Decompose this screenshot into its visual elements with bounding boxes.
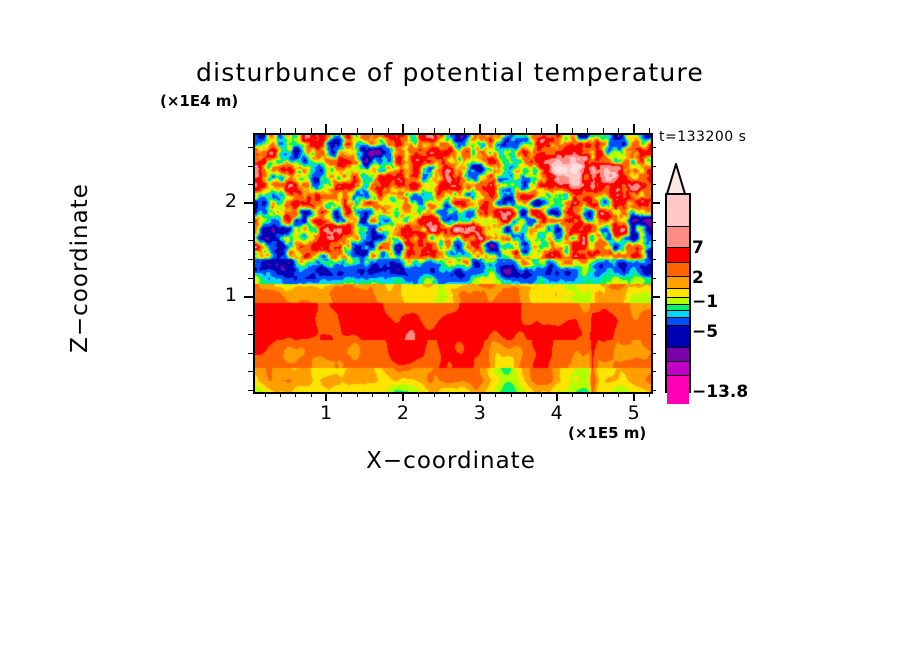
- x-minor-tick: [587, 392, 588, 397]
- x-major-tick-top: [479, 124, 481, 133]
- x-minor-tick-top: [618, 128, 619, 133]
- y-minor-tick-right: [651, 184, 656, 185]
- y-minor-tick: [248, 166, 253, 167]
- x-minor-tick-top: [526, 128, 527, 133]
- x-major-tick-top: [556, 124, 558, 133]
- x-minor-tick-top: [464, 128, 465, 133]
- contour-canvas: [255, 135, 651, 392]
- x-tick-label-0: 1: [306, 402, 346, 424]
- x-minor-tick-top: [280, 128, 281, 133]
- contour-figure: disturbunce of potential temperature (×1…: [0, 0, 904, 654]
- x-minor-tick: [511, 392, 512, 397]
- x-minor-tick-top: [511, 128, 512, 133]
- colorbar-label-1: 2: [692, 268, 704, 288]
- x-minor-tick: [295, 392, 296, 397]
- x-minor-tick: [603, 392, 604, 397]
- colorbar: [665, 193, 691, 393]
- plot-area: [253, 133, 653, 394]
- y-minor-tick-right: [651, 390, 656, 391]
- y-minor-tick-right: [651, 222, 656, 223]
- colorbar-label-2: −1: [692, 292, 718, 312]
- y-minor-tick: [248, 390, 253, 391]
- y-minor-tick: [248, 353, 253, 354]
- x-major-tick: [556, 392, 558, 401]
- colorbar-arrow-cap-icon: [664, 163, 688, 195]
- x-minor-tick: [341, 392, 342, 397]
- x-minor-tick: [311, 392, 312, 397]
- x-minor-tick-top: [341, 128, 342, 133]
- page-title: disturbunce of potential temperature: [150, 58, 750, 87]
- y-major-tick: [244, 202, 253, 204]
- colorbar-band-7: [667, 298, 689, 305]
- x-tick-label-2: 3: [460, 402, 500, 424]
- y-minor-tick: [248, 371, 253, 372]
- y-tick-label-0: 1: [197, 284, 237, 306]
- x-minor-tick: [418, 392, 419, 397]
- y-minor-tick-right: [651, 166, 656, 167]
- y-axis-unit-label: (×1E4 m): [160, 92, 238, 110]
- colorbar-label-0: 7: [692, 238, 704, 258]
- x-minor-tick-top: [587, 128, 588, 133]
- x-minor-tick: [649, 392, 650, 397]
- colorbar-band-2: [667, 348, 689, 362]
- colorbar-band-8: [667, 289, 689, 297]
- colorbar-band-11: [667, 248, 689, 263]
- colorbar-band-5: [667, 311, 689, 318]
- x-minor-tick-top: [449, 128, 450, 133]
- colorbar-band-13: [667, 195, 689, 227]
- y-minor-tick: [248, 222, 253, 223]
- x-minor-tick: [372, 392, 373, 397]
- x-major-tick: [633, 392, 635, 401]
- x-tick-label-3: 4: [537, 402, 577, 424]
- x-minor-tick: [357, 392, 358, 397]
- x-minor-tick-top: [295, 128, 296, 133]
- y-minor-tick-right: [651, 334, 656, 335]
- x-minor-tick-top: [495, 128, 496, 133]
- x-minor-tick: [265, 392, 266, 397]
- colorbar-band-9: [667, 277, 689, 290]
- x-minor-tick: [572, 392, 573, 397]
- x-minor-tick: [449, 392, 450, 397]
- x-major-tick: [402, 392, 404, 401]
- colorbar-band-3: [667, 326, 689, 348]
- x-minor-tick-top: [541, 128, 542, 133]
- colorbar-label-3: −5: [692, 322, 718, 342]
- y-major-tick: [244, 296, 253, 298]
- x-major-tick-top: [325, 124, 327, 133]
- y-minor-tick-right: [651, 147, 656, 148]
- x-minor-tick: [464, 392, 465, 397]
- colorbar-band-6: [667, 305, 689, 312]
- x-minor-tick: [618, 392, 619, 397]
- x-minor-tick-top: [357, 128, 358, 133]
- y-minor-tick: [248, 334, 253, 335]
- x-major-tick-top: [402, 124, 404, 133]
- y-minor-tick-right: [651, 259, 656, 260]
- x-minor-tick-top: [311, 128, 312, 133]
- y-minor-tick: [248, 259, 253, 260]
- y-minor-tick: [248, 147, 253, 148]
- x-minor-tick-top: [372, 128, 373, 133]
- y-minor-tick: [248, 278, 253, 279]
- y-minor-tick: [248, 315, 253, 316]
- x-minor-tick-top: [572, 128, 573, 133]
- x-major-tick: [325, 392, 327, 401]
- x-minor-tick-top: [265, 128, 266, 133]
- x-minor-tick-top: [434, 128, 435, 133]
- y-major-tick-right: [651, 202, 660, 204]
- x-axis-label: X−coordinate: [253, 448, 649, 474]
- colorbar-band-1: [667, 362, 689, 376]
- y-minor-tick-right: [651, 278, 656, 279]
- x-minor-tick: [434, 392, 435, 397]
- colorbar-band-4: [667, 318, 689, 326]
- colorbar-band-0: [667, 376, 689, 404]
- y-minor-tick-right: [651, 371, 656, 372]
- x-major-tick-top: [633, 124, 635, 133]
- y-tick-label-1: 2: [197, 190, 237, 212]
- x-minor-tick: [495, 392, 496, 397]
- x-tick-label-4: 5: [614, 402, 654, 424]
- y-minor-tick-right: [651, 240, 656, 241]
- x-minor-tick-top: [418, 128, 419, 133]
- colorbar-label-4: −13.8: [692, 382, 748, 402]
- y-major-tick-right: [651, 296, 660, 298]
- timestamp-label: t=133200 s: [659, 129, 746, 145]
- x-minor-tick-top: [388, 128, 389, 133]
- y-minor-tick-right: [651, 315, 656, 316]
- x-minor-tick: [541, 392, 542, 397]
- colorbar-band-12: [667, 227, 689, 248]
- x-minor-tick-top: [649, 128, 650, 133]
- x-minor-tick: [280, 392, 281, 397]
- x-tick-label-1: 2: [383, 402, 423, 424]
- y-axis-label: Z−coordinate: [67, 118, 93, 418]
- x-axis-unit-label: (×1E5 m): [568, 424, 646, 442]
- x-major-tick: [479, 392, 481, 401]
- y-minor-tick: [248, 184, 253, 185]
- y-minor-tick: [248, 240, 253, 241]
- x-minor-tick-top: [603, 128, 604, 133]
- colorbar-band-10: [667, 263, 689, 277]
- y-minor-tick-right: [651, 353, 656, 354]
- x-minor-tick: [526, 392, 527, 397]
- x-minor-tick: [388, 392, 389, 397]
